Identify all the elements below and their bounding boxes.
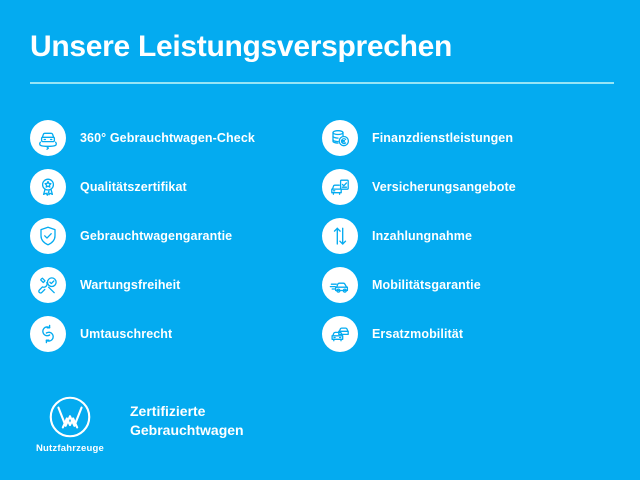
feature-item-financial-services[interactable]: Finanzdienstleistungen: [322, 120, 614, 156]
arrows-up-down-icon: [322, 218, 358, 254]
brand-sub-label: Nutzfahrzeuge: [36, 443, 104, 454]
feature-item-return-right[interactable]: Umtauschrecht: [30, 316, 322, 352]
feature-label: Gebrauchtwagengarantie: [80, 229, 232, 243]
title-divider: [30, 82, 614, 84]
feature-label: Mobilitätsgarantie: [372, 278, 481, 292]
car-360-check-icon: [30, 120, 66, 156]
feature-label: Umtauschrecht: [80, 327, 172, 341]
brand-claim-line1: Zertifizierte: [130, 402, 244, 421]
header: Unsere Leistungsversprechen: [30, 28, 614, 84]
feature-label: Inzahlungnahme: [372, 229, 472, 243]
brand-claim-line2: Gebrauchtwagen: [130, 421, 244, 440]
feature-label: Ersatzmobilität: [372, 327, 463, 341]
two-cars-icon: [322, 316, 358, 352]
feature-label: Finanzdienstleistungen: [372, 131, 513, 145]
shield-check-icon: [30, 218, 66, 254]
tow-truck-icon: [322, 267, 358, 303]
feature-label: 360° Gebrauchtwagen-Check: [80, 131, 255, 145]
brand-mark: Nutzfahrzeuge: [30, 395, 110, 454]
brand-claim: Zertifizierte Gebrauchtwagen: [130, 402, 244, 440]
feature-item-maintenance-free[interactable]: Wartungsfreiheit: [30, 267, 322, 303]
brand-block: Nutzfahrzeuge Zertifizierte Gebrauchtwag…: [30, 395, 244, 454]
feature-column-left: 360° Gebrauchtwagen-Check Qualitätszerti…: [30, 120, 322, 365]
wrench-check-icon: [30, 267, 66, 303]
coins-euro-icon: [322, 120, 358, 156]
feature-item-quality-certificate[interactable]: Qualitätszertifikat: [30, 169, 322, 205]
page-title: Unsere Leistungsversprechen: [30, 28, 614, 66]
feature-column-right: Finanzdienstleistungen Versicherungsange…: [322, 120, 614, 365]
feature-item-replacement-mobility[interactable]: Ersatzmobilität: [322, 316, 614, 352]
feature-item-insurance-offers[interactable]: Versicherungsangebote: [322, 169, 614, 205]
feature-label: Qualitätszertifikat: [80, 180, 187, 194]
feature-item-trade-in[interactable]: Inzahlungnahme: [322, 218, 614, 254]
feature-item-360-check[interactable]: 360° Gebrauchtwagen-Check: [30, 120, 322, 156]
feature-list: 360° Gebrauchtwagen-Check Qualitätszerti…: [30, 120, 614, 365]
exchange-arrows-icon: [30, 316, 66, 352]
promise-banner: Unsere Leistungsversprechen 360° Gebrauc: [0, 0, 640, 480]
feature-item-warranty[interactable]: Gebrauchtwagengarantie: [30, 218, 322, 254]
vw-logo-icon: [48, 395, 92, 439]
quality-seal-icon: [30, 169, 66, 205]
feature-item-mobility-guarantee[interactable]: Mobilitätsgarantie: [322, 267, 614, 303]
feature-label: Wartungsfreiheit: [80, 278, 180, 292]
feature-label: Versicherungsangebote: [372, 180, 516, 194]
car-document-check-icon: [322, 169, 358, 205]
